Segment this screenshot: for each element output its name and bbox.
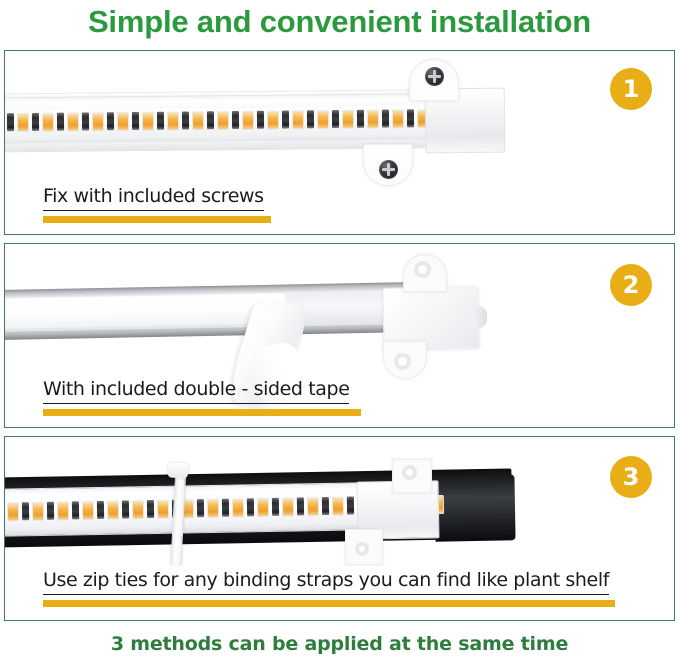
led-warm-chip: [217, 111, 229, 130]
led-driver-chip: [297, 497, 304, 515]
led-driver-chip: [332, 110, 339, 128]
led-warm-chip: [132, 500, 144, 519]
screw-hole-icon: [402, 465, 417, 480]
black-pipe-end: [434, 474, 515, 541]
led-driver-chip: [47, 502, 54, 520]
led-warm-chip: [117, 112, 129, 131]
led-driver-chip: [282, 111, 289, 129]
led-warm-chip: [142, 111, 154, 130]
illustration-step-2: [5, 244, 675, 376]
double-sided-tape-flat: [5, 293, 286, 328]
led-warm-chip: [192, 111, 204, 130]
led-driver-chip: [7, 113, 14, 131]
step-caption-1: Fix with included screws: [43, 185, 264, 211]
led-driver-chip: [32, 113, 39, 131]
led-warm-chip: [307, 497, 319, 516]
led-warm-chip: [17, 113, 29, 132]
led-warm-chip: [67, 112, 79, 131]
screw-icon: [425, 67, 444, 86]
led-warm-chip: [107, 500, 119, 519]
led-warm-chip: [257, 498, 269, 517]
step-panel-3: 3 Use zip ties for any binding straps yo…: [4, 436, 675, 621]
zip-tie-head: [168, 462, 189, 478]
installation-infographic: Simple and convenient installation: [0, 0, 679, 661]
led-chip-row: [7, 107, 469, 133]
led-driver-chip: [232, 111, 239, 129]
illustration-step-3: [5, 437, 675, 567]
led-warm-chip: [157, 499, 169, 518]
step-caption-3: Use zip ties for any binding straps you …: [43, 569, 609, 595]
led-driver-chip: [22, 502, 29, 520]
step-badge-3: 3: [610, 456, 652, 498]
led-driver-chip: [307, 110, 314, 128]
led-driver-chip: [157, 112, 164, 130]
led-driver-chip: [132, 112, 139, 130]
led-driver-chip: [207, 111, 214, 129]
bracket-tab-bottom: [345, 529, 383, 565]
led-warm-chip: [32, 501, 44, 520]
led-warm-chip: [342, 109, 354, 128]
led-warm-chip: [207, 498, 219, 517]
led-driver-chip: [247, 498, 254, 516]
screw-hole-icon: [355, 542, 369, 556]
led-driver-chip: [272, 498, 279, 516]
led-warm-chip: [232, 498, 244, 517]
step-panel-1: 1 Fix with included screws: [4, 50, 675, 235]
caption-block-3: Use zip ties for any binding straps you …: [43, 569, 615, 607]
caption-underline-bar-1: [43, 216, 271, 223]
led-driver-chip: [122, 500, 129, 518]
led-warm-chip: [82, 501, 94, 520]
bracket-tab-top: [392, 459, 432, 493]
led-warm-chip: [282, 497, 294, 516]
led-warm-chip: [367, 109, 379, 128]
page-title: Simple and convenient installation: [0, 0, 679, 44]
screw-icon: [379, 160, 398, 179]
bracket-tab-bottom: [383, 341, 427, 379]
step-badge-2: 2: [610, 264, 652, 306]
led-warm-chip: [392, 109, 404, 128]
led-driver-chip: [107, 112, 114, 130]
led-driver-chip: [72, 501, 79, 519]
led-driver-chip: [57, 113, 64, 131]
led-driver-chip: [382, 110, 389, 128]
mounting-clip-tab-bottom: [363, 144, 413, 186]
led-driver-chip: [257, 111, 264, 129]
led-driver-chip: [407, 109, 414, 127]
led-driver-chip: [82, 112, 89, 130]
step-caption-2: With included double - sided tape: [43, 378, 349, 404]
led-driver-chip: [147, 500, 154, 518]
screw-hole-icon: [414, 261, 431, 278]
led-warm-chip: [167, 111, 179, 130]
led-warm-chip: [332, 496, 344, 515]
screw-hole-icon: [394, 353, 411, 370]
led-driver-chip: [97, 501, 104, 519]
footer-note: 3 methods can be applied at the same tim…: [0, 626, 679, 661]
led-warm-chip: [317, 110, 329, 129]
caption-underline-bar-3: [43, 600, 615, 607]
led-warm-chip: [242, 110, 254, 129]
caption-block-1: Fix with included screws: [43, 185, 271, 223]
led-warm-chip: [92, 112, 104, 131]
led-driver-chip: [347, 497, 354, 515]
step-badge-1: 1: [610, 68, 652, 110]
caption-block-2: With included double - sided tape: [43, 378, 361, 416]
led-warm-chip: [292, 110, 304, 129]
led-warm-chip: [7, 502, 19, 521]
caption-underline-bar-2: [43, 409, 361, 416]
led-driver-chip: [322, 497, 329, 515]
led-warm-chip: [57, 501, 69, 520]
led-driver-chip: [182, 111, 189, 129]
led-driver-chip: [197, 499, 204, 517]
led-warm-chip: [267, 110, 279, 129]
step-panel-2: 2 With included double - sided tape: [4, 243, 675, 428]
led-driver-chip: [222, 499, 229, 517]
mounting-clip-tab-top: [409, 59, 459, 101]
end-cap-nub: [473, 306, 487, 328]
led-driver-chip: [357, 110, 364, 128]
bracket-tab-top: [403, 254, 447, 292]
illustration-step-1: [5, 51, 675, 183]
led-warm-chip: [42, 112, 54, 131]
